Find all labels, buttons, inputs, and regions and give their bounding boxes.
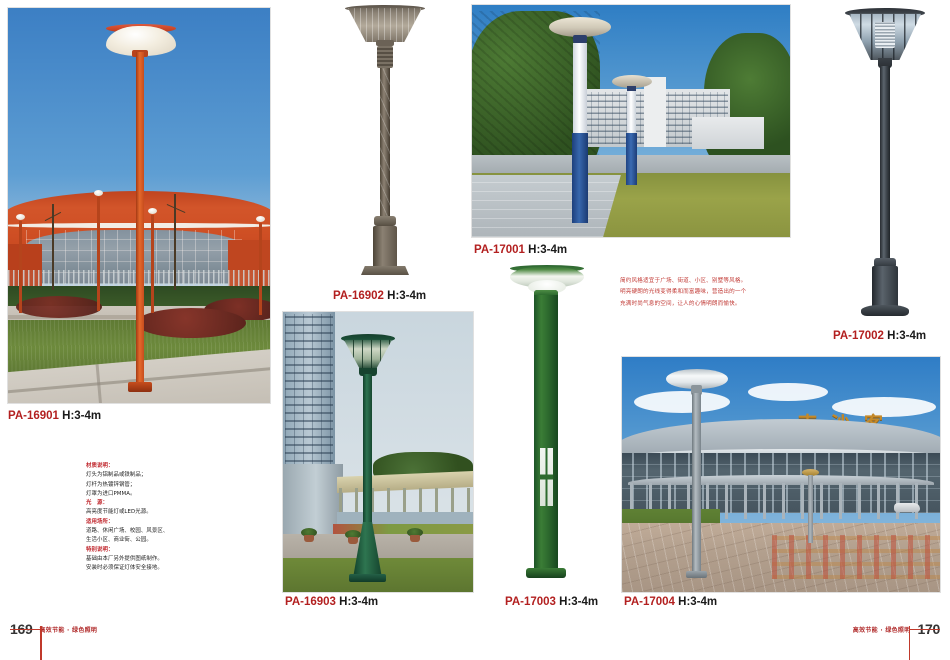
lamp-reflector — [875, 22, 895, 48]
product-height: H:3-4m — [528, 244, 567, 256]
pole-skirt — [373, 226, 397, 268]
lamp-base — [128, 382, 152, 392]
product-code: PA-17002 — [833, 330, 884, 342]
parked-car — [894, 503, 920, 512]
pole-window-panel — [540, 448, 553, 506]
base-plate — [361, 266, 409, 275]
cloud-1 — [634, 391, 730, 413]
product-render-pa-16902 — [325, 2, 445, 280]
spec-line-notes-1: 基础由本厂另外提供图纸制作。 — [86, 555, 216, 564]
spec-line-light-source-1: 高亮度节能灯或LED光源。 — [86, 508, 216, 517]
planter-pot-2 — [345, 530, 361, 544]
spec-heading-applications: 适用场所： — [86, 518, 216, 527]
blurb-line-3: 充满时尚气息的空间，让人的心情明朗而愉快。 — [620, 299, 815, 310]
lamp-foot — [349, 574, 386, 582]
lamp-fluted-section — [377, 46, 393, 68]
caption-pa-17004: PA-17004 H:3-4m — [624, 596, 717, 608]
office-tower — [283, 312, 335, 472]
blurb-line-1: 简约风格适宜于广场、街道、小区、别墅等风格。 — [620, 276, 815, 287]
lamp-pole — [363, 374, 372, 526]
product-code: PA-16902 — [333, 290, 384, 302]
secondary-lamp-pole — [808, 475, 813, 543]
product-height: H:3-4m — [559, 596, 598, 608]
specification-block: 材质说明： 灯头为铝制品或铁制品； 灯杆为热镀锌钢管； 灯罩为进口PMMA。 光… — [86, 462, 216, 574]
shrub-red-left — [16, 296, 102, 318]
caption-pa-16903: PA-16903 H:3-4m — [285, 596, 378, 608]
spec-line-material-1: 灯头为铝制品或铁制品； — [86, 471, 216, 480]
footer-divider-left — [40, 626, 42, 660]
product-height: H:3-4m — [887, 330, 926, 342]
product-code: PA-17003 — [505, 596, 556, 608]
spec-line-notes-2: 安装时必须保证灯体安全接地。 — [86, 564, 216, 573]
lamp-a-white-pole — [573, 43, 587, 133]
product-photo-pa-17004: 南 沙 客 — [622, 357, 940, 592]
footer-rule-right — [910, 629, 940, 631]
marketing-blurb: 简约风格适宜于广场、街道、小区、别墅等风格。 明亮硬朗的光线变得柔和而富趣味，营… — [620, 276, 815, 310]
spec-line-material-2: 灯杆为热镀锌钢管； — [86, 481, 216, 490]
spec-heading-notes: 特别说明： — [86, 546, 216, 555]
planter-pot-1 — [301, 528, 317, 542]
low-building — [692, 117, 764, 149]
spec-heading-material: 材质说明： — [86, 462, 216, 471]
base-plate — [861, 305, 909, 316]
pole-skirt — [872, 266, 898, 308]
caption-pa-16902: PA-16902 H:3-4m — [333, 290, 426, 302]
lamp-pole — [380, 68, 390, 218]
lamp-a-blue-pole — [572, 133, 588, 223]
catalog-page: PA-16901 H:3-4m PA-16902 H:3-4m — [0, 0, 950, 654]
cloud-2 — [748, 383, 828, 401]
paving-pattern — [772, 535, 940, 579]
footer-tagline-right: 高效节能 · 绿色照明 — [853, 625, 911, 634]
product-code: PA-16903 — [285, 596, 336, 608]
product-render-pa-17002 — [825, 2, 943, 320]
paved-path — [472, 175, 621, 237]
lamp-pole — [880, 66, 890, 260]
lamp-shade — [348, 6, 422, 42]
lamp-a-neck — [573, 35, 587, 43]
pole-knob — [374, 216, 396, 226]
caption-pa-17003: PA-17003 H:3-4m — [505, 596, 598, 608]
footer-tagline-left: 高效节能 · 绿色照明 — [39, 625, 97, 634]
product-code: PA-17001 — [474, 244, 525, 256]
product-render-pa-17003 — [492, 258, 600, 588]
footer-rule-left — [10, 629, 40, 631]
lamp-a-disc — [549, 17, 611, 37]
lamp-pole — [692, 393, 701, 575]
spec-heading-light-source: 光 源： — [86, 499, 216, 508]
spec-line-material-3: 灯罩为进口PMMA。 — [86, 490, 216, 499]
base-plate — [526, 568, 566, 578]
footer-divider-right — [909, 626, 911, 660]
product-height: H:3-4m — [387, 290, 426, 302]
lamp-foot — [686, 571, 707, 578]
product-height: H:3-4m — [678, 596, 717, 608]
product-photo-pa-16903 — [283, 312, 473, 592]
lamp-b-blue-pole — [626, 133, 637, 185]
spec-line-applications-2: 生活小区、商业街、公园。 — [86, 536, 216, 545]
office-tower-section — [644, 77, 666, 147]
caption-pa-16901: PA-16901 H:3-4m — [8, 410, 101, 422]
product-height: H:3-4m — [339, 596, 378, 608]
blurb-line-2: 明亮硬朗的光线变得柔和而富趣味，营造出的一个 — [620, 287, 815, 298]
lamp-pole — [136, 52, 144, 392]
lamp-pole — [534, 290, 558, 572]
lamp-b-white-pole — [627, 91, 636, 133]
product-height: H:3-4m — [62, 410, 101, 422]
product-photo-pa-16901 — [8, 8, 270, 403]
spec-line-applications-1: 道路、休闲广场、校园、风景区、 — [86, 527, 216, 536]
planter-pot-3 — [407, 528, 423, 542]
product-code: PA-16901 — [8, 410, 59, 422]
product-photo-pa-17001 — [472, 5, 790, 237]
pole-top-cap — [534, 290, 558, 295]
product-code: PA-17004 — [624, 596, 675, 608]
caption-pa-17001: PA-17001 H:3-4m — [474, 244, 567, 256]
caption-pa-17002: PA-17002 H:3-4m — [833, 330, 926, 342]
